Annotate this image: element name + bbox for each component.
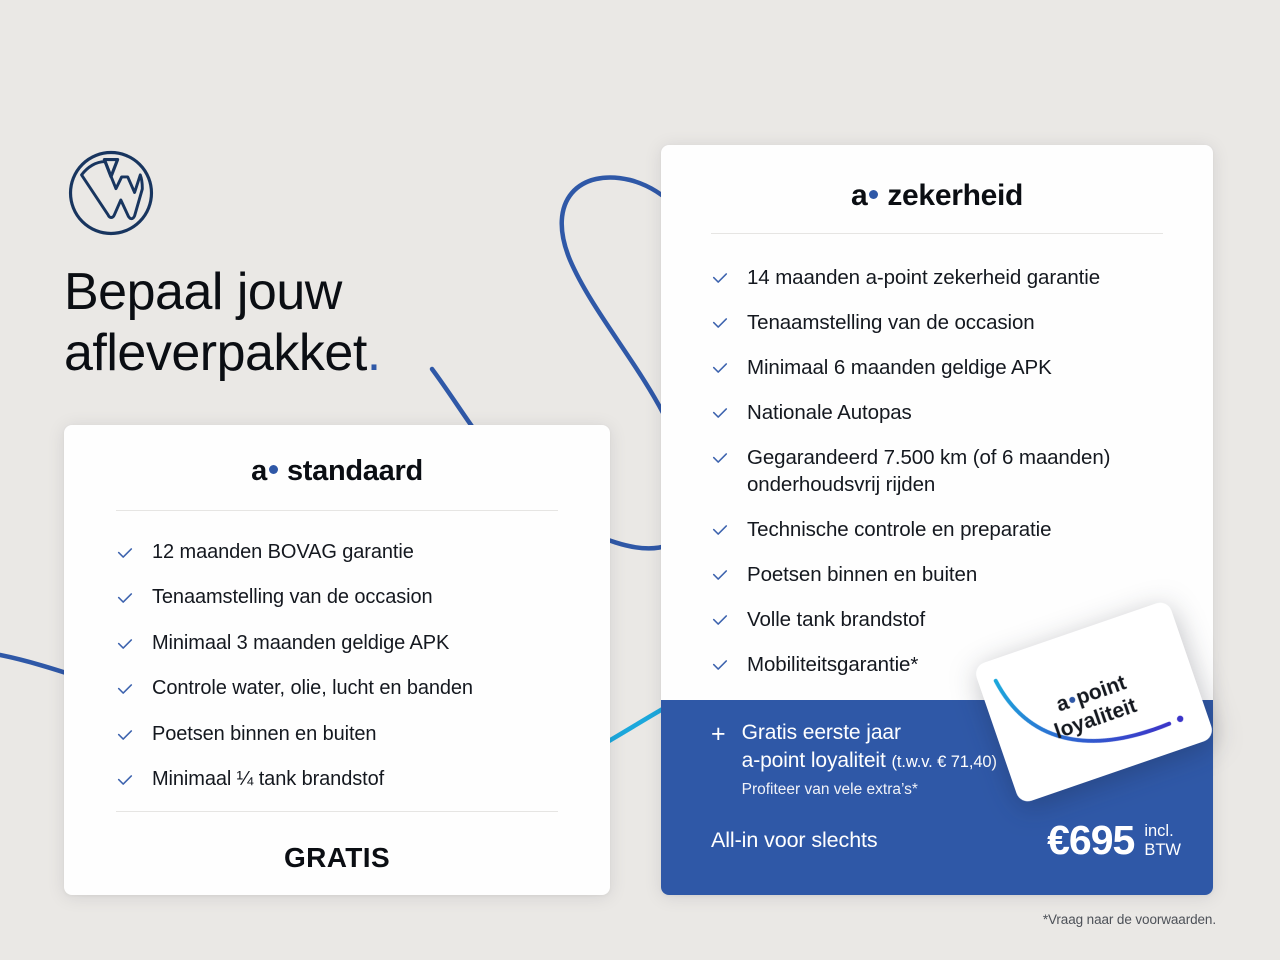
check-icon — [711, 656, 729, 674]
feature-item: Nationale Autopas — [711, 399, 1173, 426]
plus-icon: + — [711, 722, 726, 801]
check-icon — [116, 589, 134, 607]
check-icon — [711, 449, 729, 467]
check-icon — [116, 635, 134, 653]
check-icon — [116, 771, 134, 789]
card-title-text: zekerheid — [887, 179, 1023, 212]
feature-list-zekerheid: 14 maanden a-point zekerheid garantieTen… — [711, 264, 1173, 678]
brand-a-letter: a — [251, 455, 267, 487]
feature-item-label: Tenaamstelling van de occasion — [747, 309, 1035, 336]
feature-item-label: Technische controle en preparatie — [747, 516, 1051, 543]
check-icon — [711, 404, 729, 422]
offer-line-2: a-point loyaliteit — [742, 749, 886, 772]
check-icon — [711, 359, 729, 377]
headline-period: . — [367, 324, 381, 382]
page-title: Bepaal jouw afleverpakket. — [64, 262, 584, 385]
feature-item: Minimaal ¼ tank brandstof — [116, 766, 570, 792]
feature-item: Poetsen binnen en buiten — [711, 561, 1173, 588]
check-icon — [116, 726, 134, 744]
feature-item-label: Poetsen binnen en buiten — [152, 721, 376, 747]
offer-value: (t.w.v. € 71,40) — [891, 753, 996, 771]
swoosh-curve-teal — [602, 706, 668, 745]
allin-label: All-in voor slechts — [711, 828, 878, 853]
headline-line-1: Bepaal jouw — [64, 263, 342, 321]
check-icon — [711, 611, 729, 629]
feature-item: Tenaamstelling van de occasion — [116, 584, 570, 610]
feature-item: Controle water, olie, lucht en banden — [116, 675, 570, 701]
card-divider — [711, 233, 1163, 234]
brand-dot-icon — [869, 190, 878, 199]
feature-item: Minimaal 3 maanden geldige APK — [116, 630, 570, 656]
feature-list-standaard: 12 maanden BOVAG garantieTenaamstelling … — [116, 539, 570, 792]
offer-block: + Gratis eerste jaar a-point loyaliteit … — [711, 719, 997, 801]
check-icon — [711, 314, 729, 332]
feature-item-label: Nationale Autopas — [747, 399, 912, 426]
feature-item: 12 maanden BOVAG garantie — [116, 539, 570, 565]
feature-item-label: Gegarandeerd 7.500 km (of 6 maanden) ond… — [747, 444, 1173, 498]
package-card-zekerheid[interactable]: azekerheid 14 maanden a-point zekerheid … — [661, 145, 1213, 895]
feature-item: 14 maanden a-point zekerheid garantie — [711, 264, 1173, 291]
price-row: All-in voor slechts €695 incl. BTW — [711, 820, 1181, 861]
feature-item-label: Volle tank brandstof — [747, 606, 925, 633]
footnote: *Vraag naar de voorwaarden. — [1043, 912, 1216, 927]
feature-item: Minimaal 6 maanden geldige APK — [711, 354, 1173, 381]
feature-item: Gegarandeerd 7.500 km (of 6 maanden) ond… — [711, 444, 1173, 498]
price-vat-line-2: BTW — [1144, 841, 1181, 859]
feature-item-label: Tenaamstelling van de occasion — [152, 584, 433, 610]
check-icon — [116, 680, 134, 698]
offer-line-1: Gratis eerste jaar — [742, 719, 997, 747]
price-label-standaard: GRATIS — [64, 842, 610, 874]
check-icon — [711, 269, 729, 287]
volkswagen-logo — [67, 149, 155, 237]
feature-item-label: Minimaal ¼ tank brandstof — [152, 766, 384, 792]
feature-item-label: Poetsen binnen en buiten — [747, 561, 977, 588]
check-icon — [116, 544, 134, 562]
check-icon — [711, 566, 729, 584]
feature-item-label: 12 maanden BOVAG garantie — [152, 539, 414, 565]
feature-item-label: Minimaal 3 maanden geldige APK — [152, 630, 449, 656]
price-vat-note: incl. BTW — [1144, 822, 1181, 859]
check-icon — [711, 521, 729, 539]
price-group: €695 incl. BTW — [1047, 820, 1181, 861]
feature-item-label: 14 maanden a-point zekerheid garantie — [747, 264, 1100, 291]
card-title-text: standaard — [287, 455, 423, 487]
brand-a-letter: a — [851, 179, 867, 212]
headline-line-2: afleverpakket — [64, 324, 367, 382]
offer-line-3: Profiteer van vele extra’s* — [742, 778, 997, 801]
feature-item: Technische controle en preparatie — [711, 516, 1173, 543]
feature-item-label: Controle water, olie, lucht en banden — [152, 675, 473, 701]
card-title-standaard: astandaard — [64, 425, 610, 488]
feature-item: Poetsen binnen en buiten — [116, 721, 570, 747]
feature-item-label: Mobiliteitsgarantie* — [747, 651, 918, 678]
feature-item-label: Minimaal 6 maanden geldige APK — [747, 354, 1052, 381]
card-divider — [116, 510, 558, 511]
card-title-zekerheid: azekerheid — [661, 145, 1213, 213]
feature-item: Tenaamstelling van de occasion — [711, 309, 1173, 336]
package-card-standaard[interactable]: astandaard 12 maanden BOVAG garantieTena… — [64, 425, 610, 895]
card-divider-bottom — [116, 811, 558, 812]
brand-dot-icon — [269, 465, 278, 474]
price-vat-line-1: incl. — [1144, 822, 1173, 840]
price-amount: €695 — [1047, 820, 1134, 861]
